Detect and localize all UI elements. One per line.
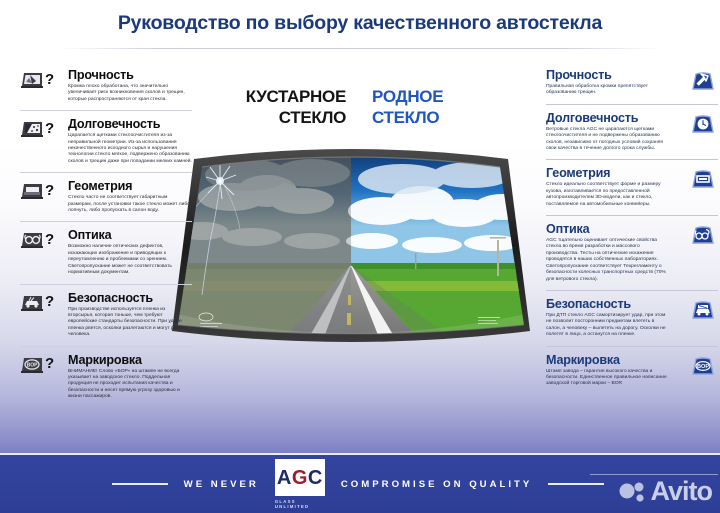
icon-wrap: BOP xyxy=(674,353,718,377)
agc-logo-letter-g: G xyxy=(292,468,308,488)
feature-item-marking-genuine: BOP Маркировка Штамп завода – гарантия в… xyxy=(546,346,718,395)
label-aftermarket-line2: СТЕКЛО xyxy=(196,107,346,128)
genuine-glass-column: Прочность Правильная обработка кромки пр… xyxy=(546,62,718,395)
icon-wrap xyxy=(674,297,718,321)
agc-logo-letter-c: C xyxy=(308,468,323,488)
comparison-labels: КУСТАРНОЕ СТЕКЛО РОДНОЕ СТЕКЛО xyxy=(196,86,522,148)
feature-text: AGC тщательно оценивает оптические свойс… xyxy=(546,238,670,283)
windshield-comparison-image xyxy=(172,145,530,353)
hammer-glass-icon xyxy=(688,70,718,92)
feature-text: Стекло идеально соответствует форме и ра… xyxy=(546,182,670,208)
glasses-glass-icon xyxy=(688,224,718,246)
feature-item-safety-aftermarket: ? Безопасность При производстве использу… xyxy=(20,284,192,346)
aftermarket-glass-column: ? Прочность Кромка плохо обработана, что… xyxy=(20,62,192,408)
icon-wrap xyxy=(674,111,718,135)
feature-title: Безопасность xyxy=(546,297,670,311)
feature-item-geometry-genuine: Геометрия Стекло идеально соответствует … xyxy=(546,159,718,215)
icon-wrap xyxy=(674,68,718,92)
avito-dots-icon xyxy=(618,479,648,505)
feature-item-geometry-aftermarket: ? Геометрия Стекло часто не соответствуе… xyxy=(20,172,192,221)
question-mark-icon: ? xyxy=(45,295,54,308)
icon-wrap: ? xyxy=(20,228,64,248)
page-header: Руководство по выбору качественного авто… xyxy=(0,0,720,46)
feature-title: Долговечность xyxy=(546,111,670,125)
feature-title: Безопасность xyxy=(68,291,192,305)
label-genuine-glass: РОДНОЕ СТЕКЛО xyxy=(372,86,522,148)
icon-wrap xyxy=(674,222,718,246)
icon-wrap: ? xyxy=(20,117,64,137)
feature-title: Маркировка xyxy=(68,353,192,367)
feature-item-safety-genuine: Безопасность При ДТП стекло AGC самортиз… xyxy=(546,290,718,346)
question-mark-icon: ? xyxy=(45,357,54,370)
feature-item-durability-aftermarket: ? Долговечность Царапается щетками стекл… xyxy=(20,110,192,172)
slogan-dash-right xyxy=(548,483,604,485)
clock-glass-icon xyxy=(688,113,718,135)
feature-item-durability-genuine: Долговечность Ветровые стекла AGC не цар… xyxy=(546,104,718,160)
page-title: Руководство по выбору качественного авто… xyxy=(118,12,602,35)
footer-bar: WE NEVER AGC GLASS UNLIMITED COMPROMISE … xyxy=(0,455,720,513)
icon-wrap: ? xyxy=(20,291,64,311)
icon-wrap: ? xyxy=(20,179,64,199)
agc-logo-box: AGC xyxy=(275,459,325,496)
svg-text:BOP: BOP xyxy=(27,362,39,368)
feature-title: Прочность xyxy=(546,68,670,82)
icon-wrap xyxy=(674,166,718,190)
safe-car-glass-icon xyxy=(688,299,718,321)
label-genuine-line1: РОДНОЕ xyxy=(372,86,522,107)
feature-text: При производстве используется пленка из … xyxy=(68,307,192,339)
geometry-glass-icon xyxy=(20,181,44,199)
agc-logo: AGC GLASS UNLIMITED xyxy=(275,459,325,509)
label-genuine-line2: СТЕКЛО xyxy=(372,107,522,128)
bor-stamp-icon: BOP xyxy=(20,355,44,373)
feature-text: Царапается щетками стеклоочистителя из-з… xyxy=(68,133,192,165)
feature-title: Оптика xyxy=(68,228,192,242)
icon-wrap: BOP ? xyxy=(20,353,64,373)
feature-title: Маркировка xyxy=(546,353,670,367)
glasses-icon xyxy=(20,230,44,248)
question-mark-icon: ? xyxy=(45,122,54,135)
worn-glass-icon xyxy=(20,119,44,137)
feature-text: Возможно наличие оптических дефектов, ис… xyxy=(68,244,192,276)
cracked-glass-icon xyxy=(20,70,44,88)
feature-title: Геометрия xyxy=(546,166,670,180)
feature-item-optics-genuine: Оптика AGC тщательно оценивает оптически… xyxy=(546,215,718,290)
feature-title: Геометрия xyxy=(68,179,192,193)
label-aftermarket-glass: КУСТАРНОЕ СТЕКЛО xyxy=(196,86,346,148)
svg-text:BOP: BOP xyxy=(697,364,709,370)
broken-car-icon xyxy=(20,293,44,311)
bor-stamp-glass-icon: BOP xyxy=(688,355,718,377)
avito-watermark: Avito xyxy=(618,478,713,505)
watermark-rule xyxy=(590,474,718,476)
feature-item-optics-aftermarket: ? Оптика Возможно наличие оптических деф… xyxy=(20,221,192,283)
brand-slogan: WE NEVER AGC GLASS UNLIMITED COMPROMISE … xyxy=(112,459,605,509)
label-aftermarket-line1: КУСТАРНОЕ xyxy=(196,86,346,107)
header-divider xyxy=(58,48,662,49)
feature-text: Штамп завода – гарантия высокого качеств… xyxy=(546,369,670,388)
feature-text: При ДТП стекло AGC самортизирует удар, п… xyxy=(546,313,670,339)
poster-root: Руководство по выбору качественного авто… xyxy=(0,0,720,513)
geometry-glass-icon xyxy=(688,168,718,190)
slogan-right-text: COMPROMISE ON QUALITY xyxy=(341,479,532,490)
slogan-left-text: WE NEVER xyxy=(184,479,259,490)
agc-logo-letter-a: A xyxy=(277,468,292,488)
question-mark-icon: ? xyxy=(45,184,54,197)
feature-title: Долговечность xyxy=(68,117,192,131)
feature-text: ВНИМАНИЕ! Слово «БОР» на штампе не всегд… xyxy=(68,369,192,401)
feature-text: Кромка плохо обработана, что значительно… xyxy=(68,84,192,103)
feature-text: Ветровые стекла AGC не царапаются щеткам… xyxy=(546,127,670,153)
icon-wrap: ? xyxy=(20,68,64,88)
feature-text: Стекло часто не соответствует габаритным… xyxy=(68,195,192,214)
question-mark-icon: ? xyxy=(45,233,54,246)
feature-title: Прочность xyxy=(68,68,192,82)
feature-item-strength-aftermarket: ? Прочность Кромка плохо обработана, что… xyxy=(20,62,192,110)
feature-item-marking-aftermarket: BOP ? Маркировка ВНИМАНИЕ! Слово «БОР» н… xyxy=(20,346,192,408)
feature-title: Оптика xyxy=(546,222,670,236)
agc-logo-tagline: GLASS UNLIMITED xyxy=(275,499,325,509)
slogan-dash-left xyxy=(112,483,168,485)
feature-text: Правильная обработка кромки препятствует… xyxy=(546,84,670,97)
avito-wordmark: Avito xyxy=(651,478,713,505)
question-mark-icon: ? xyxy=(45,73,54,86)
feature-item-strength-genuine: Прочность Правильная обработка кромки пр… xyxy=(546,62,718,104)
